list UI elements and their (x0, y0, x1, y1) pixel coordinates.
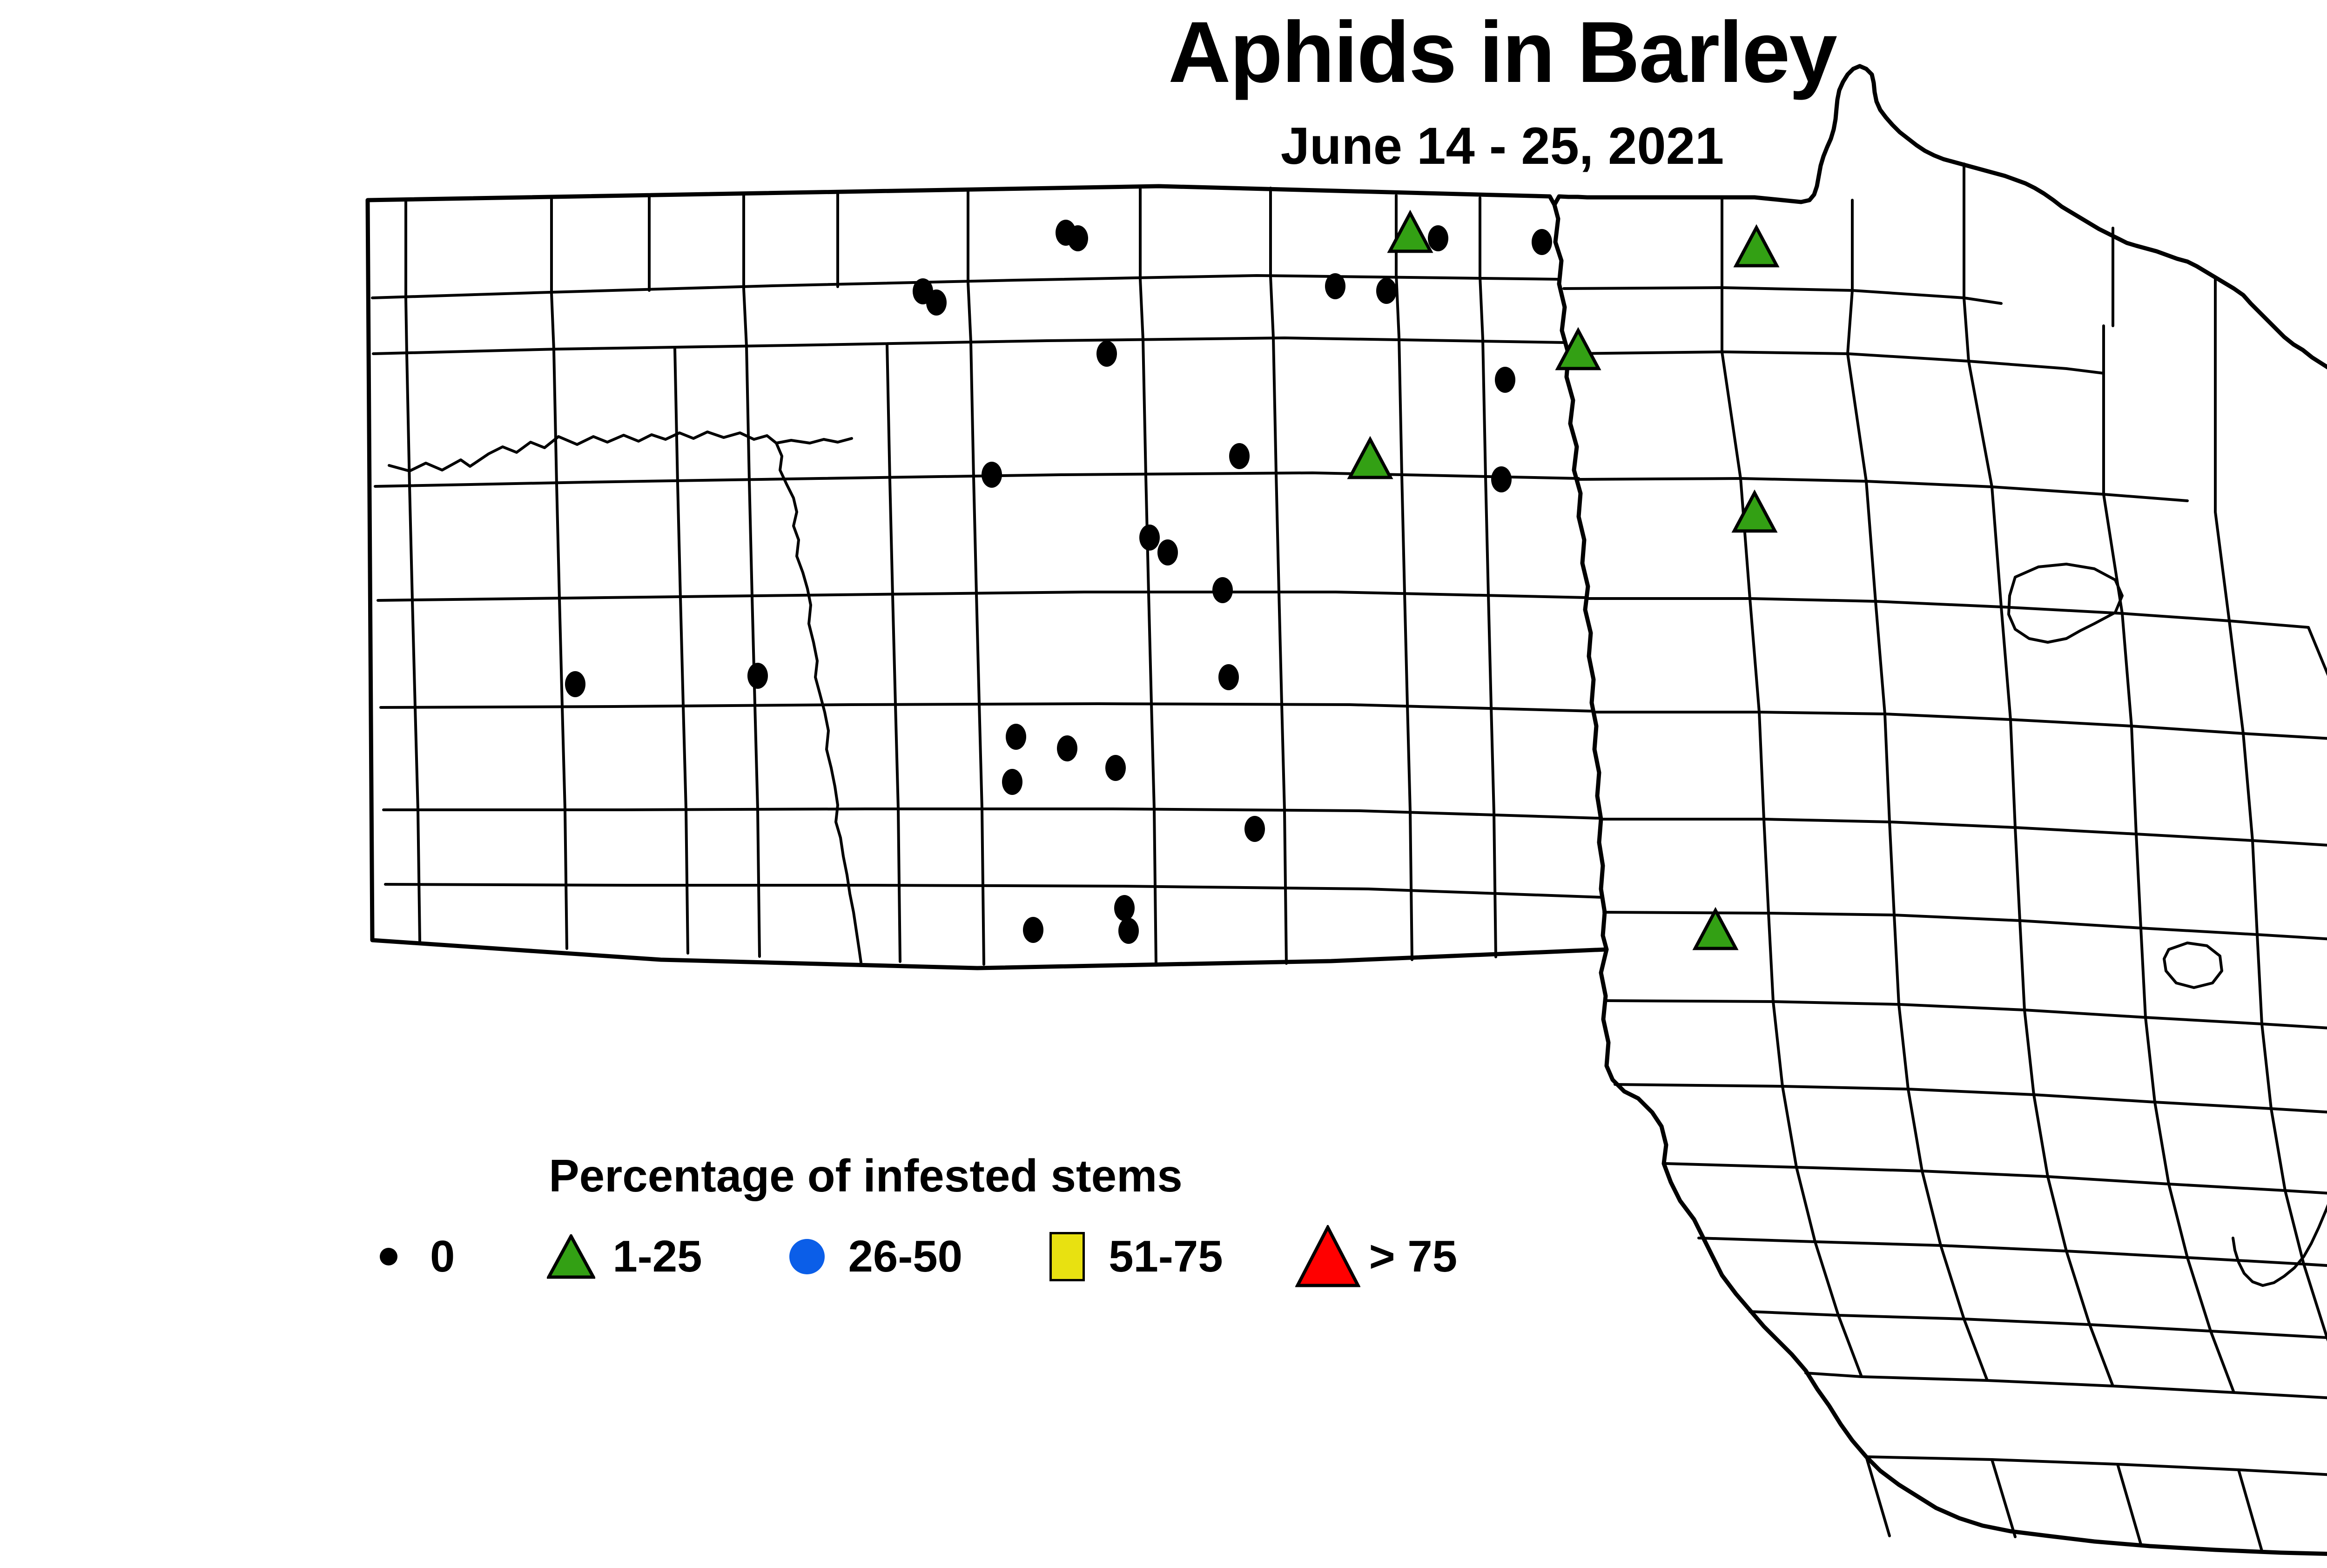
map-county-boundaries (368, 66, 2327, 1555)
legend-item-3: 51-75 (1032, 1219, 1223, 1294)
map-marker-triangle (1350, 439, 1390, 478)
nd-v-7a (418, 810, 420, 941)
mn-v-h2 (1894, 915, 1899, 1004)
north-dakota-outline (368, 186, 1607, 968)
map-marker-dot (926, 289, 947, 316)
mn-v-d4 (2104, 494, 2122, 613)
nd-v-4i (1402, 475, 1405, 593)
map-marker-dot (1002, 769, 1022, 795)
mn-v-e1 (1750, 599, 1759, 712)
nd-v-6b (562, 707, 565, 810)
mille-lacs-outline (2164, 943, 2222, 988)
mn-v-m4 (2211, 1331, 2234, 1393)
legend-item-1: 1-25 (536, 1219, 702, 1294)
lake-sakakawea-arm (776, 438, 852, 443)
legend-label-4: > 75 (1363, 1231, 1458, 1282)
map-marker-dot (565, 671, 585, 697)
mn-v-e2 (1876, 601, 1885, 714)
nd-v-4f (974, 478, 976, 594)
nd-v-3f (971, 342, 974, 478)
mn-v-f4 (2132, 726, 2136, 834)
nd-v-2f (1271, 276, 1273, 338)
map-marker-dot (1495, 367, 1515, 393)
mn-v-k5 (2285, 1191, 2304, 1264)
nd-v-4a (410, 486, 412, 600)
nd-v-5e (893, 596, 895, 705)
red-triangle-icon (1293, 1219, 1363, 1294)
nd-v-2c (744, 289, 747, 346)
mn-v-j1 (1782, 1086, 1796, 1167)
mn-v-e4 (2122, 613, 2132, 726)
missouri-river-nd (389, 432, 861, 962)
red-lake-outline (2009, 564, 2122, 642)
legend-items-row: 0 1-25 26-50 51-75 (354, 1219, 1457, 1294)
nd-v-7d (758, 809, 760, 956)
nd-v-5b (559, 599, 562, 707)
nd-v-7c (686, 809, 688, 953)
mn-tier-line-14 (1866, 1457, 2327, 1493)
nd-v-3j (1483, 339, 1486, 477)
map-marker-dot (1105, 755, 1126, 781)
mn-v-j2 (1908, 1089, 1922, 1171)
mn-tier-line-9 (1615, 1084, 2327, 1124)
mn-v-j5 (2271, 1109, 2285, 1191)
mn-v-c3 (1969, 361, 1992, 487)
nd-v-5d (752, 597, 755, 705)
nd-v-5h (1279, 592, 1282, 704)
mn-v-n3 (2118, 1464, 2141, 1544)
nd-v-2d (968, 282, 971, 342)
mn-v-j4 (2155, 1102, 2169, 1184)
nd-v-5i (1405, 593, 1407, 705)
mn-v-d3 (1992, 487, 2001, 607)
mn-v-d5 (2215, 512, 2229, 621)
mn-v-k1 (1796, 1167, 1815, 1242)
mn-tier-line-3 (1579, 478, 2187, 501)
map-marker-dot (1212, 577, 1233, 603)
map-marker-dot (1229, 443, 1250, 469)
mn-v-d1 (1741, 478, 1750, 599)
map-marker-triangle (1734, 493, 1775, 531)
black-dot-icon (354, 1219, 424, 1294)
nd-v-6d (755, 705, 758, 809)
mn-v-j3 (2034, 1095, 2048, 1177)
mn-v-i2 (1899, 1004, 1908, 1089)
map-marker-dot (1068, 225, 1088, 251)
mn-v-c2 (1848, 354, 1866, 481)
nd-v-2e (1140, 279, 1143, 340)
mn-v-g5 (2253, 841, 2257, 935)
mn-v-k2 (1922, 1171, 1941, 1245)
mn-v-b2 (1848, 290, 1852, 354)
nd-v-4d (749, 481, 752, 597)
mn-v-g2 (1890, 822, 1894, 915)
legend-title: Percentage of infested stems (354, 1150, 1378, 1202)
nd-v-7j (1494, 813, 1496, 957)
map-marker-dot (1325, 273, 1345, 299)
nd-v-3e (887, 344, 890, 480)
blue-circle-icon (772, 1219, 842, 1294)
map-marker-dot (1376, 278, 1397, 304)
mn-v-b3 (1964, 298, 1969, 361)
mn-v-c1 (1722, 352, 1741, 478)
mn-v-f3 (2011, 720, 2015, 828)
yellow-square-icon (1032, 1219, 1102, 1294)
nd-v-2g (1396, 275, 1399, 337)
nd-v-7h (1285, 810, 1286, 963)
map-page: Aphids in Barley June 14 - 25, 2021 (0, 0, 2327, 1568)
nd-v-7f (982, 809, 984, 964)
mn-v-i1 (1773, 1002, 1782, 1086)
mn-tier-line-5 (1594, 712, 2327, 740)
nd-v-5g (1149, 593, 1151, 704)
nd-v-3d (747, 346, 749, 481)
map-marker-dot (1114, 895, 1135, 921)
nd-v-6c (683, 706, 686, 809)
mn-v-e3 (2001, 607, 2011, 720)
mn-v-l1 (1815, 1242, 1838, 1315)
map-marker-triangle (1695, 910, 1735, 949)
mn-v-i4 (2145, 1017, 2155, 1102)
mn-v-h4 (2141, 928, 2145, 1017)
nd-v-3b (554, 350, 557, 484)
nd-v-6i (1407, 705, 1410, 811)
nd-v-3i (1399, 337, 1402, 475)
legend-item-4: > 75 (1293, 1219, 1458, 1294)
mn-v-l3 (2066, 1251, 2090, 1325)
mn-tier-line-13 (1806, 1373, 2327, 1416)
mn-v-l4 (2187, 1258, 2211, 1331)
mn-v-e5 (2229, 621, 2243, 734)
nd-tier-line-2 (373, 338, 1565, 354)
state-map (0, 0, 2327, 1568)
mn-tier-line-8 (1607, 1001, 2327, 1040)
map-marker-dot (1139, 525, 1160, 551)
mn-v-n4 (2239, 1470, 2262, 1551)
mn-v-e6 (2308, 627, 2327, 740)
mn-v-m3 (2090, 1325, 2113, 1386)
nd-v-3g (1143, 340, 1146, 476)
map-marker-dot (1218, 664, 1239, 690)
nd-v-4h (1276, 474, 1279, 592)
mn-v-h1 (1769, 913, 1773, 1002)
nd-v-4j (1486, 477, 1488, 595)
nd-tier-line-7 (385, 884, 1603, 897)
mn-v-m1 (1838, 1315, 1862, 1377)
nd-v-6f (979, 704, 982, 809)
mn-tier-line-12 (1750, 1312, 2327, 1354)
nd-v-6j (1491, 707, 1494, 813)
mn-v-g1 (1764, 819, 1769, 913)
legend-label-3: 51-75 (1102, 1231, 1223, 1282)
green-triangle-icon (536, 1219, 606, 1294)
nd-v-6a (415, 707, 418, 810)
mn-v-l2 (1941, 1245, 1964, 1319)
mn-v-h5 (2257, 935, 2262, 1024)
nd-v-6e (895, 705, 898, 809)
map-marker-dot (747, 663, 768, 689)
nd-v-7e (898, 809, 900, 962)
map-marker-triangle (1736, 228, 1776, 266)
nd-v-7g (1154, 809, 1156, 965)
nd-v-7i (1410, 811, 1412, 960)
nd-v-4b (557, 484, 559, 599)
map-marker-dot (1057, 735, 1077, 761)
nd-v-6h (1282, 704, 1285, 810)
mn-tier-line-2 (1569, 352, 2104, 373)
nd-v-4e (890, 480, 893, 596)
mn-tier-line-1 (1564, 288, 2001, 303)
mn-v-d2 (1866, 481, 1876, 601)
mn-v-k4 (2169, 1184, 2187, 1258)
map-marker-dot (1428, 225, 1448, 251)
legend-label-0: 0 (424, 1231, 455, 1282)
legend-item-0: 0 (354, 1219, 455, 1294)
mn-tier-line-10 (1666, 1164, 2327, 1206)
mn-v-k3 (2048, 1177, 2066, 1251)
map-marker-dot (1096, 341, 1117, 367)
nd-v-3h (1273, 338, 1276, 474)
nd-v-5a (412, 600, 415, 707)
mn-tier-line-4 (1586, 599, 2308, 627)
nd-v-4c (678, 483, 680, 598)
mn-v-n2 (1992, 1460, 2015, 1537)
nd-v-7b (565, 810, 567, 949)
nd-v-2h (1480, 276, 1483, 339)
map-marker-dot (1532, 229, 1552, 255)
map-marker-dot (1023, 917, 1043, 943)
map-marker-dot (982, 462, 1002, 488)
legend-label-2: 26-50 (842, 1231, 963, 1282)
map-marker-dot (1491, 466, 1512, 492)
map-marker-dot (1118, 918, 1139, 944)
mn-v-m2 (1964, 1319, 1987, 1380)
nd-v-5c (680, 598, 683, 706)
nd-v-3c (675, 348, 678, 483)
map-marker-dot (1244, 816, 1265, 842)
nd-v-2b (551, 293, 554, 350)
nd-v-6g (1151, 704, 1154, 809)
nd-v-3a (407, 354, 410, 486)
map-marker-dot (1157, 539, 1178, 565)
nd-v-5j (1488, 595, 1491, 707)
nd-v-5f (976, 594, 979, 704)
nd-v-2a (406, 299, 407, 354)
mn-v-f2 (1885, 714, 1890, 822)
mn-v-f5 (2243, 734, 2253, 841)
mn-v-h3 (2020, 921, 2024, 1010)
legend-item-2: 26-50 (772, 1219, 963, 1294)
mn-v-i3 (2024, 1010, 2034, 1095)
legend-label-1: 1-25 (606, 1231, 702, 1282)
mn-tier-line-6 (1600, 819, 2327, 855)
mn-v-i5 (2262, 1024, 2271, 1109)
mn-v-g4 (2136, 834, 2141, 928)
mn-v-l5 (2304, 1264, 2327, 1338)
mn-v-g3 (2015, 828, 2020, 921)
map-legend: Percentage of infested stems 0 1-25 26-5… (354, 1150, 1750, 1303)
mn-v-f1 (1759, 712, 1764, 819)
map-marker-dot (1006, 724, 1026, 750)
